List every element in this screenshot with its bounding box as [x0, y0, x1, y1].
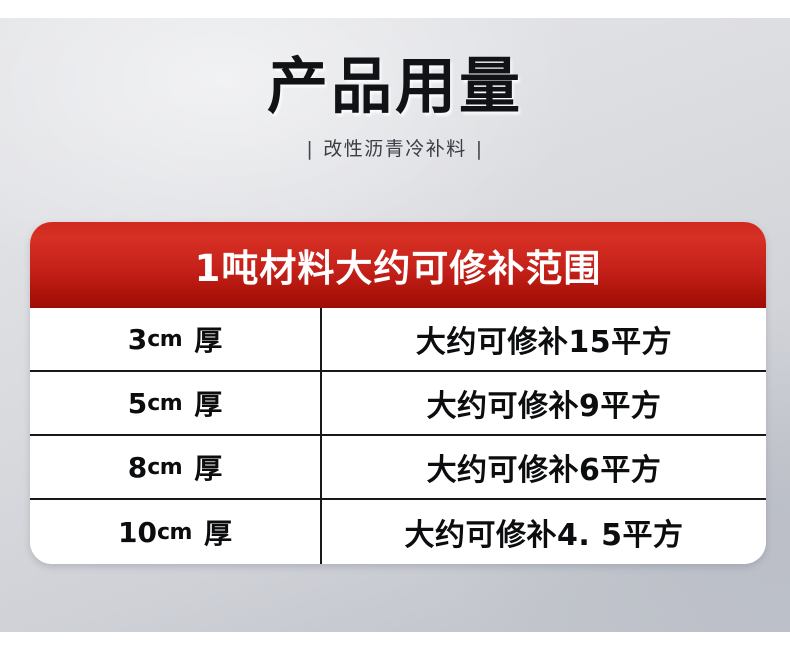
thickness-cell: 3cm厚 [30, 308, 322, 370]
thickness-unit: cm [157, 520, 192, 545]
table-row: 8cm厚 大约可修补6平方 [30, 434, 766, 498]
thickness-value: 3 [128, 323, 147, 356]
table-row: 3cm厚 大约可修补15平方 [30, 308, 766, 370]
thickness-value: 10 [118, 516, 157, 549]
subtitle-text: 改性沥青冷补料 [323, 138, 467, 160]
coverage-card: 1吨材料大约可修补范围 3cm厚 大约可修补15平方 5cm厚 大约可修补9平方… [30, 222, 766, 564]
thickness-unit: cm [147, 327, 182, 352]
coverage-table: 3cm厚 大约可修补15平方 5cm厚 大约可修补9平方 8cm厚 大约可修补6… [30, 308, 766, 564]
thickness-value: 8 [128, 451, 147, 484]
coverage-cell: 大约可修补15平方 [322, 308, 766, 370]
heading-block: 产品用量 |改性沥青冷补料| [0, 54, 790, 161]
thickness-cell: 5cm厚 [30, 372, 322, 434]
coverage-cell: 大约可修补9平方 [322, 372, 766, 434]
thickness-cell: 8cm厚 [30, 436, 322, 498]
page-subtitle: |改性沥青冷补料| [0, 134, 790, 161]
card-banner: 1吨材料大约可修补范围 [30, 222, 766, 308]
thickness-unit: cm [147, 455, 182, 480]
banner-title: 1吨材料大约可修补范围 [195, 238, 602, 292]
thickness-label: 厚 [194, 383, 222, 423]
thickness-label: 厚 [194, 447, 222, 487]
coverage-cell: 大约可修补4. 5平方 [322, 500, 766, 564]
table-row: 5cm厚 大约可修补9平方 [30, 370, 766, 434]
product-usage-infographic: 产品用量 |改性沥青冷补料| 1吨材料大约可修补范围 3cm厚 大约可修补15平… [0, 0, 790, 651]
table-row: 10cm厚 大约可修补4. 5平方 [30, 498, 766, 564]
thickness-cell: 10cm厚 [30, 500, 322, 564]
thickness-label: 厚 [204, 512, 232, 552]
thickness-value: 5 [128, 387, 147, 420]
subtitle-divider-left: | [297, 138, 323, 160]
thickness-unit: cm [147, 391, 182, 416]
thickness-label: 厚 [194, 319, 222, 359]
page-title: 产品用量 [0, 54, 790, 120]
coverage-cell: 大约可修补6平方 [322, 436, 766, 498]
subtitle-divider-right: | [467, 138, 493, 160]
